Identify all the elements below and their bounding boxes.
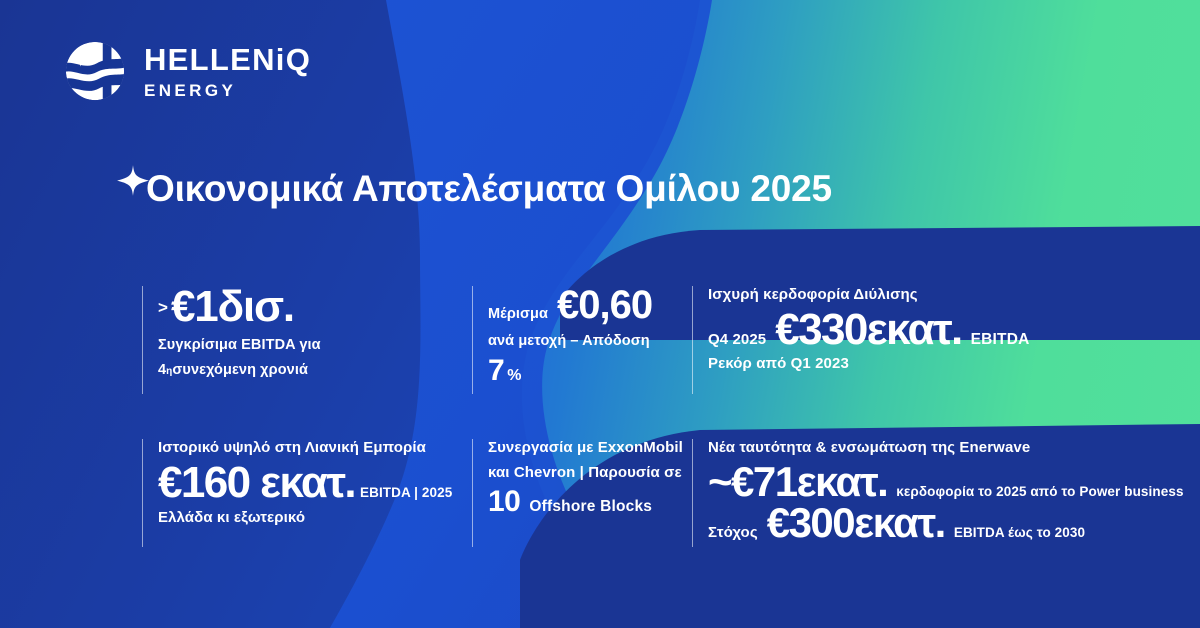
stat-value-1: ~€71εκατ.	[708, 461, 887, 504]
stat-caption-bottom: Ρεκόρ από Q1 2023	[708, 353, 849, 376]
stat-yield-unit: %	[507, 367, 521, 385]
page-title: Οικονομικά Αποτελέσματα Ομίλου 2025	[146, 168, 832, 211]
stat-card-comparable-ebitda: > €1δισ. Συγκρίσιμα EBITDA για 4η συνεχό…	[142, 284, 472, 381]
page-title-row: Οικονομικά Αποτελέσματα Ομίλου 2025	[116, 168, 832, 211]
stat-card-retail: Ιστορικό υψηλό στη Λιανική Εμπορία €160 …	[142, 437, 472, 529]
stat-card-dividend: Μέρισμα €0,60 ανά μετοχή – Απόδοση 7 %	[472, 284, 692, 387]
stat-label: Μέρισμα	[488, 303, 548, 325]
stat-value: €330εκατ.	[775, 308, 961, 353]
stat-suffix-1: κερδοφορία το 2025 από το Power business	[896, 484, 1183, 499]
stat-suffix-2: EBITDA έως το 2030	[954, 525, 1085, 540]
stat-suffix: EBITDA	[971, 331, 1030, 349]
stat-caption-2-rest: συνεχόμενη χρονιά	[172, 359, 308, 381]
stat-card-refining: Ισχυρή κερδοφορία Διύλισης Q4 2025 €330ε…	[692, 284, 1162, 376]
stats-row-top: > €1δισ. Συγκρίσιμα EBITDA για 4η συνεχό…	[142, 284, 1162, 387]
stat-value: €1δισ.	[171, 284, 294, 330]
stat-card-power: Νέα ταυτότητα & ενσωμάτωση της Enerwave …	[692, 437, 1162, 544]
stat-caption-top: Ιστορικό υψηλό στη Λιανική Εμπορία	[158, 437, 426, 460]
stat-value-2: €300εκατ.	[767, 502, 945, 545]
stat-value: €0,60	[557, 284, 652, 326]
sparkle-icon	[116, 164, 150, 198]
stat-yield-value: 7	[488, 354, 504, 387]
stat-caption-1: Συνεργασία με ExxonMobil	[488, 437, 683, 460]
stat-caption-top: Ισχυρή κερδοφορία Διύλισης	[708, 284, 918, 307]
poster-canvas: HELLENiQ ENERGY Οικονομικά Αποτελέσματα …	[0, 0, 1200, 628]
stats-grid: > €1δισ. Συγκρίσιμα EBITDA για 4η συνεχό…	[142, 284, 1162, 545]
stat-value: 10	[488, 485, 520, 518]
stat-value: €160 εκατ.	[158, 461, 355, 506]
greater-than-prefix: >	[158, 298, 168, 318]
stat-caption-1: ανά μετοχή – Απόδοση	[488, 330, 650, 352]
stat-card-upstream: Συνεργασία με ExxonMobil και Chevron | Π…	[472, 437, 692, 518]
stat-suffix: Offshore Blocks	[529, 498, 652, 516]
stat-caption-bottom: Ελλάδα κι εξωτερικό	[158, 507, 305, 530]
stat-caption-2-number: 4	[158, 359, 166, 381]
stat-caption-2: και Chevron | Παρουσία σε	[488, 462, 682, 485]
brand-logo[interactable]: HELLENiQ ENERGY	[64, 40, 311, 102]
brand-name: HELLENiQ	[144, 44, 311, 75]
stat-caption-1: Συγκρίσιμα EBITDA για	[158, 334, 321, 356]
stat-label-2: Στόχος	[708, 522, 758, 545]
stat-caption-top: Νέα ταυτότητα & ενσωμάτωση της Enerwave	[708, 437, 1030, 460]
stats-row-bottom: Ιστορικό υψηλό στη Λιανική Εμπορία €160 …	[142, 437, 1162, 544]
stat-suffix: EBITDA | 2025	[360, 485, 452, 500]
stat-period: Q4 2025	[708, 329, 766, 352]
helleniq-globe-icon	[64, 40, 126, 102]
brand-subtitle: ENERGY	[144, 82, 311, 99]
